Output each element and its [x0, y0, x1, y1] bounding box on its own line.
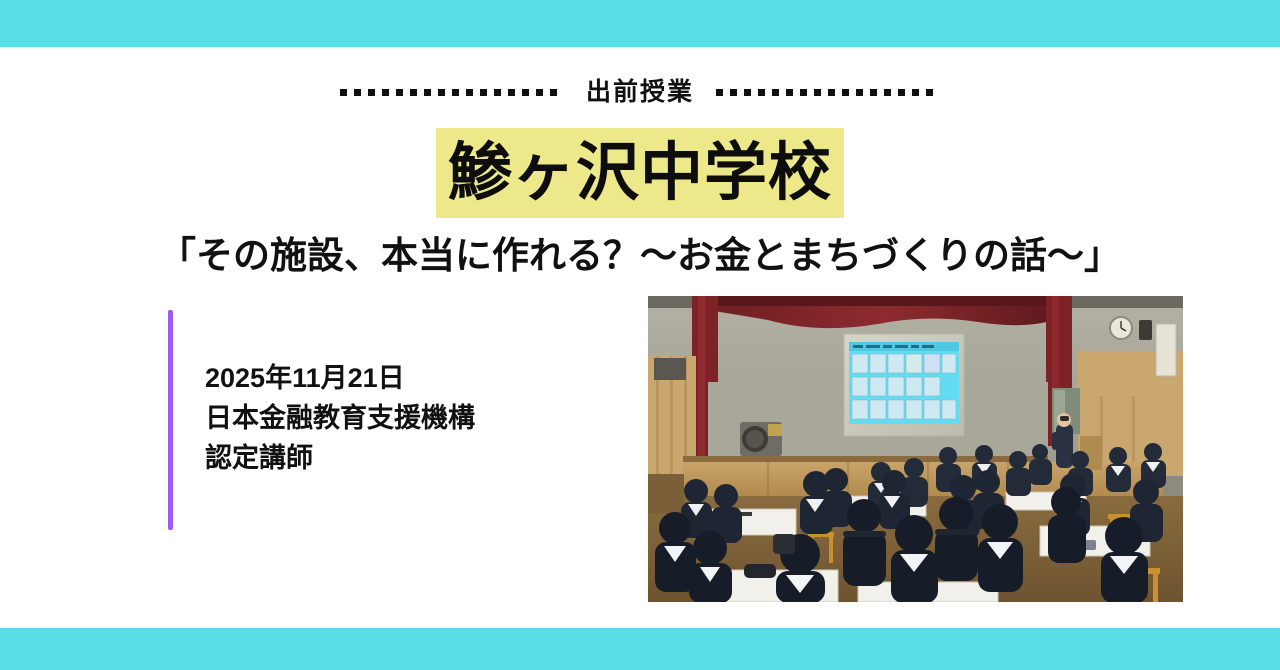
dotted-rule-left-icon [340, 89, 564, 96]
school-name-highlight: 鯵ヶ沢中学校 [436, 128, 844, 218]
school-name-container: 鯵ヶ沢中学校 [0, 128, 1280, 218]
kicker-row: 出前授業 [0, 80, 1280, 105]
dotted-rule-right-icon [716, 89, 940, 96]
lesson-title: 「その施設、本当に作れる？〜お金とまちづくりの話〜」 [0, 233, 1280, 279]
info-line-role: 認定講師 [205, 438, 475, 478]
bottom-color-band [0, 628, 1280, 670]
classroom-photo [648, 296, 1183, 602]
kicker-label: 出前授業 [586, 80, 694, 105]
top-color-band [0, 0, 1280, 47]
info-line-organization: 日本金融教育支援機構 [205, 398, 475, 438]
info-block: 2025年11月21日 日本金融教育支援機構 認定講師 [168, 310, 475, 530]
info-line-date: 2025年11月21日 [205, 358, 475, 398]
classroom-photo-illustration [648, 296, 1183, 602]
info-lines: 2025年11月21日 日本金融教育支援機構 認定講師 [173, 310, 475, 530]
